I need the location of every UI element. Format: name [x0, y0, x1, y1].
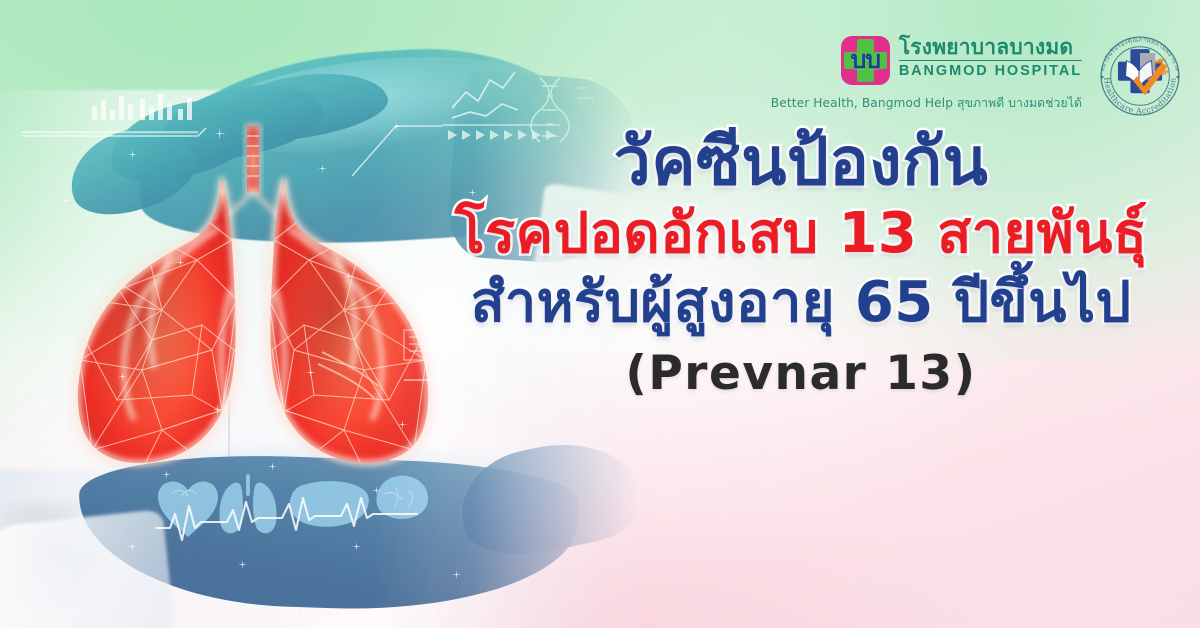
bangmod-logo-mark: บบ	[841, 36, 890, 85]
healthcare-accreditation-seal: สถาบันรับรองคุณภาพสถานพยาบาล Healthcare …	[1092, 28, 1188, 124]
poster-canvas: บบ โรงพยาบาลบางมด BANGMOD HOSPITAL Bette…	[0, 0, 1200, 628]
headline-line-4-product: (Prevnar 13)	[420, 350, 1182, 398]
headline-line-1: วัคซีนป้องกัน	[420, 128, 1182, 195]
logo-wordmark: โรงพยาบาลบางมด BANGMOD HOSPITAL	[899, 36, 1082, 81]
hospital-tagline: Better Health, Bangmod Help สุขภาพดี บาง…	[771, 94, 1082, 113]
bangmod-hospital-logo[interactable]: บบ โรงพยาบาลบางมด BANGMOD HOSPITAL	[841, 36, 1082, 85]
headline-line-3: สำหรับผู้สูงอายุ 65 ปีขึ้นไป	[420, 274, 1182, 331]
hospital-name-thai: โรงพยาบาลบางมด	[899, 37, 1082, 59]
hospital-name-english: BANGMOD HOSPITAL	[899, 60, 1082, 81]
lower-hand-sleeve	[0, 509, 177, 628]
logo-monogram: บบ	[841, 36, 890, 85]
headline-block: วัคซีนป้องกัน โรคปอดอักเสบ 13 สายพันธุ์ …	[420, 128, 1182, 397]
headline-line-2: โรคปอดอักเสบ 13 สายพันธุ์	[420, 205, 1182, 262]
